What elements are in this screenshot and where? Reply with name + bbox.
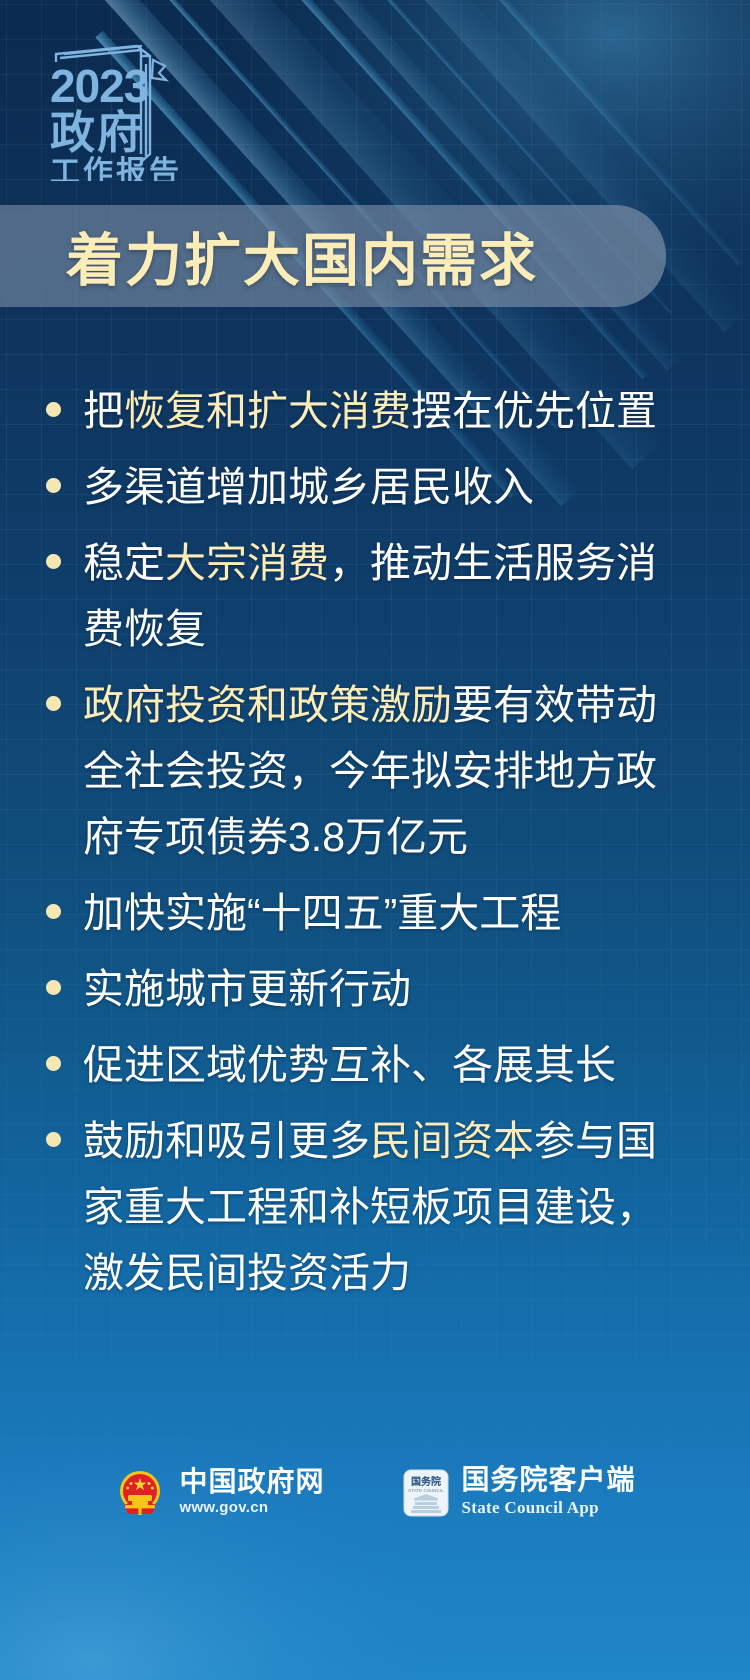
dot-bullet-icon: [46, 696, 61, 711]
dot-bullet-icon: [46, 478, 61, 493]
plain-phrase: 多渠道增加城乡居民收入: [83, 464, 534, 510]
gov-site-block[interactable]: 中国政府网 www.gov.cn: [114, 1467, 324, 1520]
svg-text:政府: 政府: [50, 107, 144, 158]
list-item-text: 加快实施“十四五”重大工程: [83, 880, 561, 946]
list-item: 把恢复和扩大消费摆在优先位置: [34, 378, 716, 444]
list-item-text: 促进区域优势互补、各展其长: [83, 1032, 616, 1098]
dot-bullet-icon: [46, 402, 61, 417]
list-item-text: 多渠道增加城乡居民收入: [83, 454, 534, 520]
highlighted-phrase: 恢复和扩大消费: [124, 388, 411, 434]
list-item-text: 鼓励和吸引更多民间资本参与国家重大工程和补短板项目建设，激发民间投资活力: [83, 1108, 677, 1306]
gov-site-url: www.gov.cn: [179, 1497, 324, 1520]
state-council-app-name: 国务院客户端: [462, 1465, 636, 1495]
state-council-app-subtitle: State Council App: [462, 1495, 636, 1521]
dot-bullet-icon: [46, 554, 61, 569]
state-council-app-icon: 国务院 STATE COUNCIL: [403, 1468, 449, 1518]
list-item: 实施城市更新行动: [34, 956, 716, 1022]
dot-bullet-icon: [46, 1132, 61, 1147]
plain-phrase: 把: [83, 388, 124, 434]
list-item: 促进区域优势互补、各展其长: [34, 1032, 716, 1098]
list-item-text: 把恢复和扩大消费摆在优先位置: [83, 378, 657, 444]
plain-phrase: 摆在优先位置: [411, 388, 657, 434]
footer: 中国政府网 www.gov.cn 国务院 STATE COUNCIL: [0, 1465, 750, 1521]
svg-text:国务院: 国务院: [411, 1475, 441, 1488]
dot-bullet-icon: [46, 1056, 61, 1071]
plain-phrase: 鼓励和吸引更多: [83, 1118, 370, 1164]
poster-root: 2023 政府 工作报告 着力扩大国内需求 把恢复和扩大消费摆在优先位置多渠道增…: [0, 0, 750, 1680]
list-item-text: 稳定大宗消费，推动生活服务消费恢复: [83, 530, 677, 662]
list-item-text: 政府投资和政策激励要有效带动全社会投资，今年拟安排地方政府专项债券3.8万亿元: [83, 672, 677, 870]
report-logo: 2023 政府 工作报告: [38, 36, 188, 181]
list-item: 多渠道增加城乡居民收入: [34, 454, 716, 520]
dot-bullet-icon: [46, 904, 61, 919]
svg-text:工作报告: 工作报告: [50, 156, 182, 181]
plain-phrase: 实施城市更新行动: [83, 966, 411, 1012]
list-item: 政府投资和政策激励要有效带动全社会投资，今年拟安排地方政府专项债券3.8万亿元: [34, 672, 716, 870]
plain-phrase: 稳定: [83, 540, 165, 586]
list-item: 加快实施“十四五”重大工程: [34, 880, 716, 946]
gov-site-name: 中国政府网: [179, 1467, 324, 1497]
page-title: 着力扩大国内需求: [66, 215, 538, 297]
highlighted-phrase: 大宗消费: [165, 540, 329, 586]
plain-phrase: 促进区域优势互补、各展其长: [83, 1042, 616, 1088]
highlighted-phrase: 民间资本: [370, 1118, 534, 1164]
plain-phrase: 加快实施“十四五”重大工程: [83, 890, 561, 936]
list-item: 鼓励和吸引更多民间资本参与国家重大工程和补短板项目建设，激发民间投资活力: [34, 1108, 716, 1306]
dot-bullet-icon: [46, 980, 61, 995]
state-council-app-block[interactable]: 国务院 STATE COUNCIL 国务院客户端 State Council A…: [403, 1465, 636, 1521]
national-emblem-icon: [114, 1467, 166, 1519]
list-item: 稳定大宗消费，推动生活服务消费恢复: [34, 530, 716, 662]
title-banner: 着力扩大国内需求: [0, 205, 666, 307]
svg-text:STATE COUNCIL: STATE COUNCIL: [408, 1488, 444, 1493]
svg-text:2023: 2023: [50, 60, 148, 112]
bullet-list: 把恢复和扩大消费摆在优先位置多渠道增加城乡居民收入稳定大宗消费，推动生活服务消费…: [0, 378, 750, 1316]
highlighted-phrase: 政府投资和政策激励: [83, 682, 452, 728]
list-item-text: 实施城市更新行动: [83, 956, 411, 1022]
